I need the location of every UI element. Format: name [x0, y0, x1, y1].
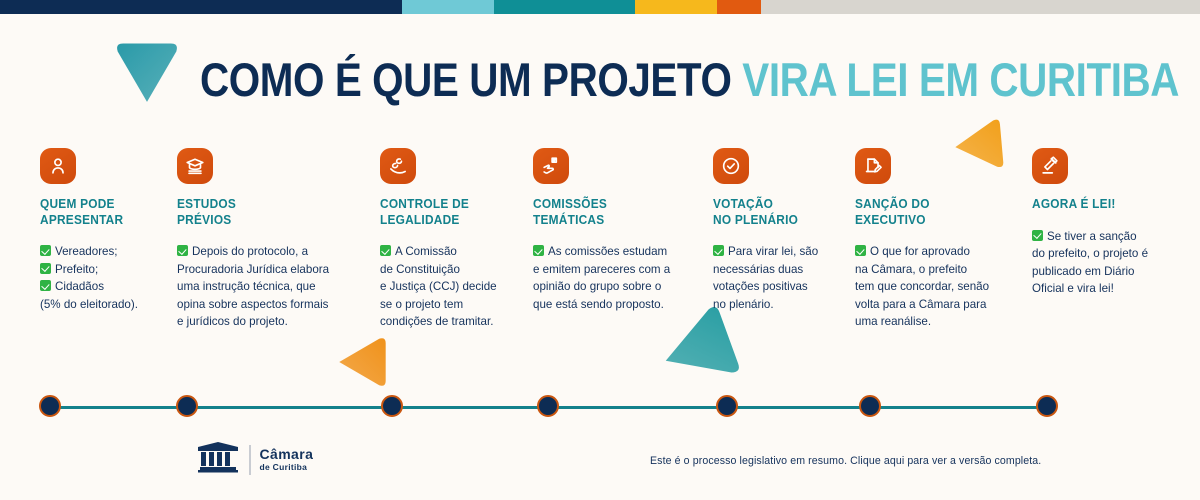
step-bullet-line: O que for aprovado	[855, 243, 989, 261]
check-circle-icon	[713, 148, 749, 184]
step-body: Para virar lei, sãonecessárias duasvotaç…	[713, 243, 818, 313]
step-bullet-text: na Câmara, o prefeito	[855, 263, 967, 276]
footer-note[interactable]: Este é o processo legislativo em resumo.…	[650, 455, 1041, 467]
step-bullet-line: publicado em Diário	[1032, 263, 1148, 281]
steps-container: QUEM PODE APRESENTARVereadores;Prefeito;…	[0, 148, 1200, 348]
step-bullet-text: se o projeto tem	[380, 298, 463, 311]
topbar-segment-teal	[494, 0, 635, 14]
step-bullet-text: (5% do eleitorado).	[40, 298, 138, 311]
timeline-dot-estudos-previos[interactable]	[176, 395, 198, 417]
step-bullet-line: e emitem pareceres com a	[533, 261, 670, 279]
step-bullet-line: e Justiça (CCJ) decide	[380, 278, 497, 296]
step-bullet-line: As comissões estudam	[533, 243, 670, 261]
step-bullet-line: necessárias duas	[713, 261, 818, 279]
check-icon	[40, 263, 51, 274]
step-bullet-line: Depois do protocolo, a	[177, 243, 329, 261]
step-bullet-text: publicado em Diário	[1032, 265, 1134, 278]
step-bullet-text: necessárias duas	[713, 263, 803, 276]
step-bullet-line: volta para a Câmara para	[855, 296, 989, 314]
timeline-dot-quem-pode-apresentar[interactable]	[39, 395, 61, 417]
step-bullet-text: Cidadãos	[55, 280, 104, 293]
logo-divider	[249, 445, 251, 475]
step-body: Vereadores;Prefeito;Cidadãos(5% do eleit…	[40, 243, 138, 313]
step-column-quem-pode-apresentar: QUEM PODE APRESENTARVereadores;Prefeito;…	[40, 148, 138, 313]
step-bullet-text: de Constituição	[380, 263, 460, 276]
step-body: O que for aprovadona Câmara, o prefeitot…	[855, 243, 989, 331]
step-bullet-line: e jurídicos do projeto.	[177, 313, 329, 331]
step-bullet-line: uma reanálise.	[855, 313, 989, 331]
step-bullet-line: opina sobre aspectos formais	[177, 296, 329, 314]
check-icon	[1032, 230, 1043, 241]
step-bullet-line: Prefeito;	[40, 261, 138, 279]
scales-hand-icon	[380, 148, 416, 184]
step-bullet-text: opinião do grupo sobre o	[533, 280, 661, 293]
step-heading: VOTAÇÃO NO PLENÁRIO	[713, 197, 813, 228]
logo-title: Câmara	[260, 447, 314, 461]
step-bullet-text: volta para a Câmara para	[855, 298, 986, 311]
step-bullet-text: do prefeito, o projeto é	[1032, 247, 1148, 260]
step-column-estudos-previos: ESTUDOS PRÉVIOSDepois do protocolo, aPro…	[177, 148, 329, 331]
timeline-dot-comissoes-tematicas[interactable]	[537, 395, 559, 417]
step-heading: COMISSÕES TEMÁTICAS	[533, 197, 663, 228]
timeline-dot-sancao-do-executivo[interactable]	[859, 395, 881, 417]
step-bullet-line: Oficial e vira lei!	[1032, 280, 1148, 298]
step-body: Se tiver a sançãodo prefeito, o projeto …	[1032, 228, 1148, 298]
step-bullet-text: tem que concordar, senão	[855, 280, 989, 293]
check-icon	[713, 245, 724, 256]
page-title: COMO É QUE UM PROJETO VIRA LEI EM CURITI…	[200, 56, 1179, 103]
timeline-dot-agora-e-lei[interactable]	[1036, 395, 1058, 417]
step-bullet-text: Para virar lei, são	[728, 245, 818, 258]
step-column-controle-de-legalidade: CONTROLE DE LEGALIDADEA Comissãode Const…	[380, 148, 497, 331]
step-bullet-text: condições de tramitar.	[380, 315, 493, 328]
step-bullet-line: A Comissão	[380, 243, 497, 261]
step-bullet-line: de Constituição	[380, 261, 497, 279]
check-icon	[177, 245, 188, 256]
step-bullet-line: no plenário.	[713, 296, 818, 314]
step-bullet-line: do prefeito, o projeto é	[1032, 245, 1148, 263]
timeline-dot-votacao-no-plenario[interactable]	[716, 395, 738, 417]
check-icon	[40, 280, 51, 291]
step-bullet-line: Cidadãos	[40, 278, 138, 296]
top-color-bar	[0, 0, 1200, 14]
step-bullet-text: Vereadores;	[55, 245, 118, 258]
page-title-part1: COMO É QUE UM PROJETO	[200, 53, 731, 106]
step-bullet-text: votações positivas	[713, 280, 808, 293]
step-body: A Comissãode Constituiçãoe Justiça (CCJ)…	[380, 243, 497, 331]
step-bullet-text: O que for aprovado	[870, 245, 970, 258]
footer-logo[interactable]: Câmara de Curitiba	[196, 441, 313, 478]
document-pen-icon	[855, 148, 891, 184]
hand-document-icon	[533, 148, 569, 184]
process-timeline	[0, 395, 1200, 419]
topbar-segment-navy	[0, 0, 402, 14]
step-bullet-text: e emitem pareceres com a	[533, 263, 670, 276]
person-icon	[40, 148, 76, 184]
step-heading: CONTROLE DE LEGALIDADE	[380, 197, 491, 228]
step-bullet-text: e jurídicos do projeto.	[177, 315, 288, 328]
step-heading: QUEM PODE APRESENTAR	[40, 197, 133, 228]
step-bullet-line: na Câmara, o prefeito	[855, 261, 989, 279]
step-bullet-text: opina sobre aspectos formais	[177, 298, 328, 311]
step-bullet-line: Procuradoria Jurídica elabora	[177, 261, 329, 279]
step-bullet-line: Se tiver a sanção	[1032, 228, 1148, 246]
timeline-dot-controle-de-legalidade[interactable]	[381, 395, 403, 417]
camara-building-icon	[196, 441, 240, 478]
step-bullet-line: (5% do eleitorado).	[40, 296, 138, 314]
step-bullet-text: Depois do protocolo, a	[192, 245, 308, 258]
topbar-segment-yellow	[635, 0, 717, 14]
step-heading: AGORA É LEI!	[1032, 197, 1142, 213]
step-bullet-line: Para virar lei, são	[713, 243, 818, 261]
step-heading: ESTUDOS PRÉVIOS	[177, 197, 321, 228]
step-bullet-line: opinião do grupo sobre o	[533, 278, 670, 296]
step-column-sancao-do-executivo: SANÇÃO DO EXECUTIVOO que for aprovadona …	[855, 148, 989, 331]
step-bullet-line: que está sendo proposto.	[533, 296, 670, 314]
step-bullet-text: Procuradoria Jurídica elabora	[177, 263, 329, 276]
step-bullet-text: que está sendo proposto.	[533, 298, 664, 311]
step-bullet-line: uma instrução técnica, que	[177, 278, 329, 296]
step-bullet-text: As comissões estudam	[548, 245, 667, 258]
step-bullet-text: A Comissão	[395, 245, 457, 258]
step-heading: SANÇÃO DO EXECUTIVO	[855, 197, 982, 228]
topbar-segment-orange	[717, 0, 761, 14]
step-bullet-text: uma reanálise.	[855, 315, 931, 328]
step-bullet-text: Oficial e vira lei!	[1032, 282, 1114, 295]
step-column-agora-e-lei: AGORA É LEI!Se tiver a sançãodo prefeito…	[1032, 148, 1148, 298]
step-bullet-line: se o projeto tem	[380, 296, 497, 314]
gavel-icon	[1032, 148, 1068, 184]
check-icon	[40, 245, 51, 256]
page-title-part2: VIRA LEI EM CURITIBA	[742, 53, 1179, 106]
step-bullet-line: votações positivas	[713, 278, 818, 296]
step-bullet-text: e Justiça (CCJ) decide	[380, 280, 497, 293]
logo-subtitle: de Curitiba	[260, 463, 314, 472]
step-column-votacao-no-plenario: VOTAÇÃO NO PLENÁRIOPara virar lei, sãone…	[713, 148, 818, 313]
step-bullet-text: uma instrução técnica, que	[177, 280, 316, 293]
teal-triangle-down	[113, 38, 181, 106]
step-bullet-line: condições de tramitar.	[380, 313, 497, 331]
check-icon	[380, 245, 391, 256]
step-bullet-line: Vereadores;	[40, 243, 138, 261]
step-bullet-text: Prefeito;	[55, 263, 98, 276]
check-icon	[855, 245, 866, 256]
step-body: As comissões estudame emitem pareceres c…	[533, 243, 670, 313]
topbar-segment-light-gray	[761, 0, 1200, 14]
step-column-comissoes-tematicas: COMISSÕES TEMÁTICASAs comissões estudame…	[533, 148, 670, 313]
step-bullet-text: Se tiver a sanção	[1047, 230, 1137, 243]
step-body: Depois do protocolo, aProcuradoria Juríd…	[177, 243, 329, 331]
check-icon	[533, 245, 544, 256]
graduation-cap-icon	[177, 148, 213, 184]
topbar-segment-light-teal	[402, 0, 494, 14]
step-bullet-text: no plenário.	[713, 298, 774, 311]
step-bullet-line: tem que concordar, senão	[855, 278, 989, 296]
